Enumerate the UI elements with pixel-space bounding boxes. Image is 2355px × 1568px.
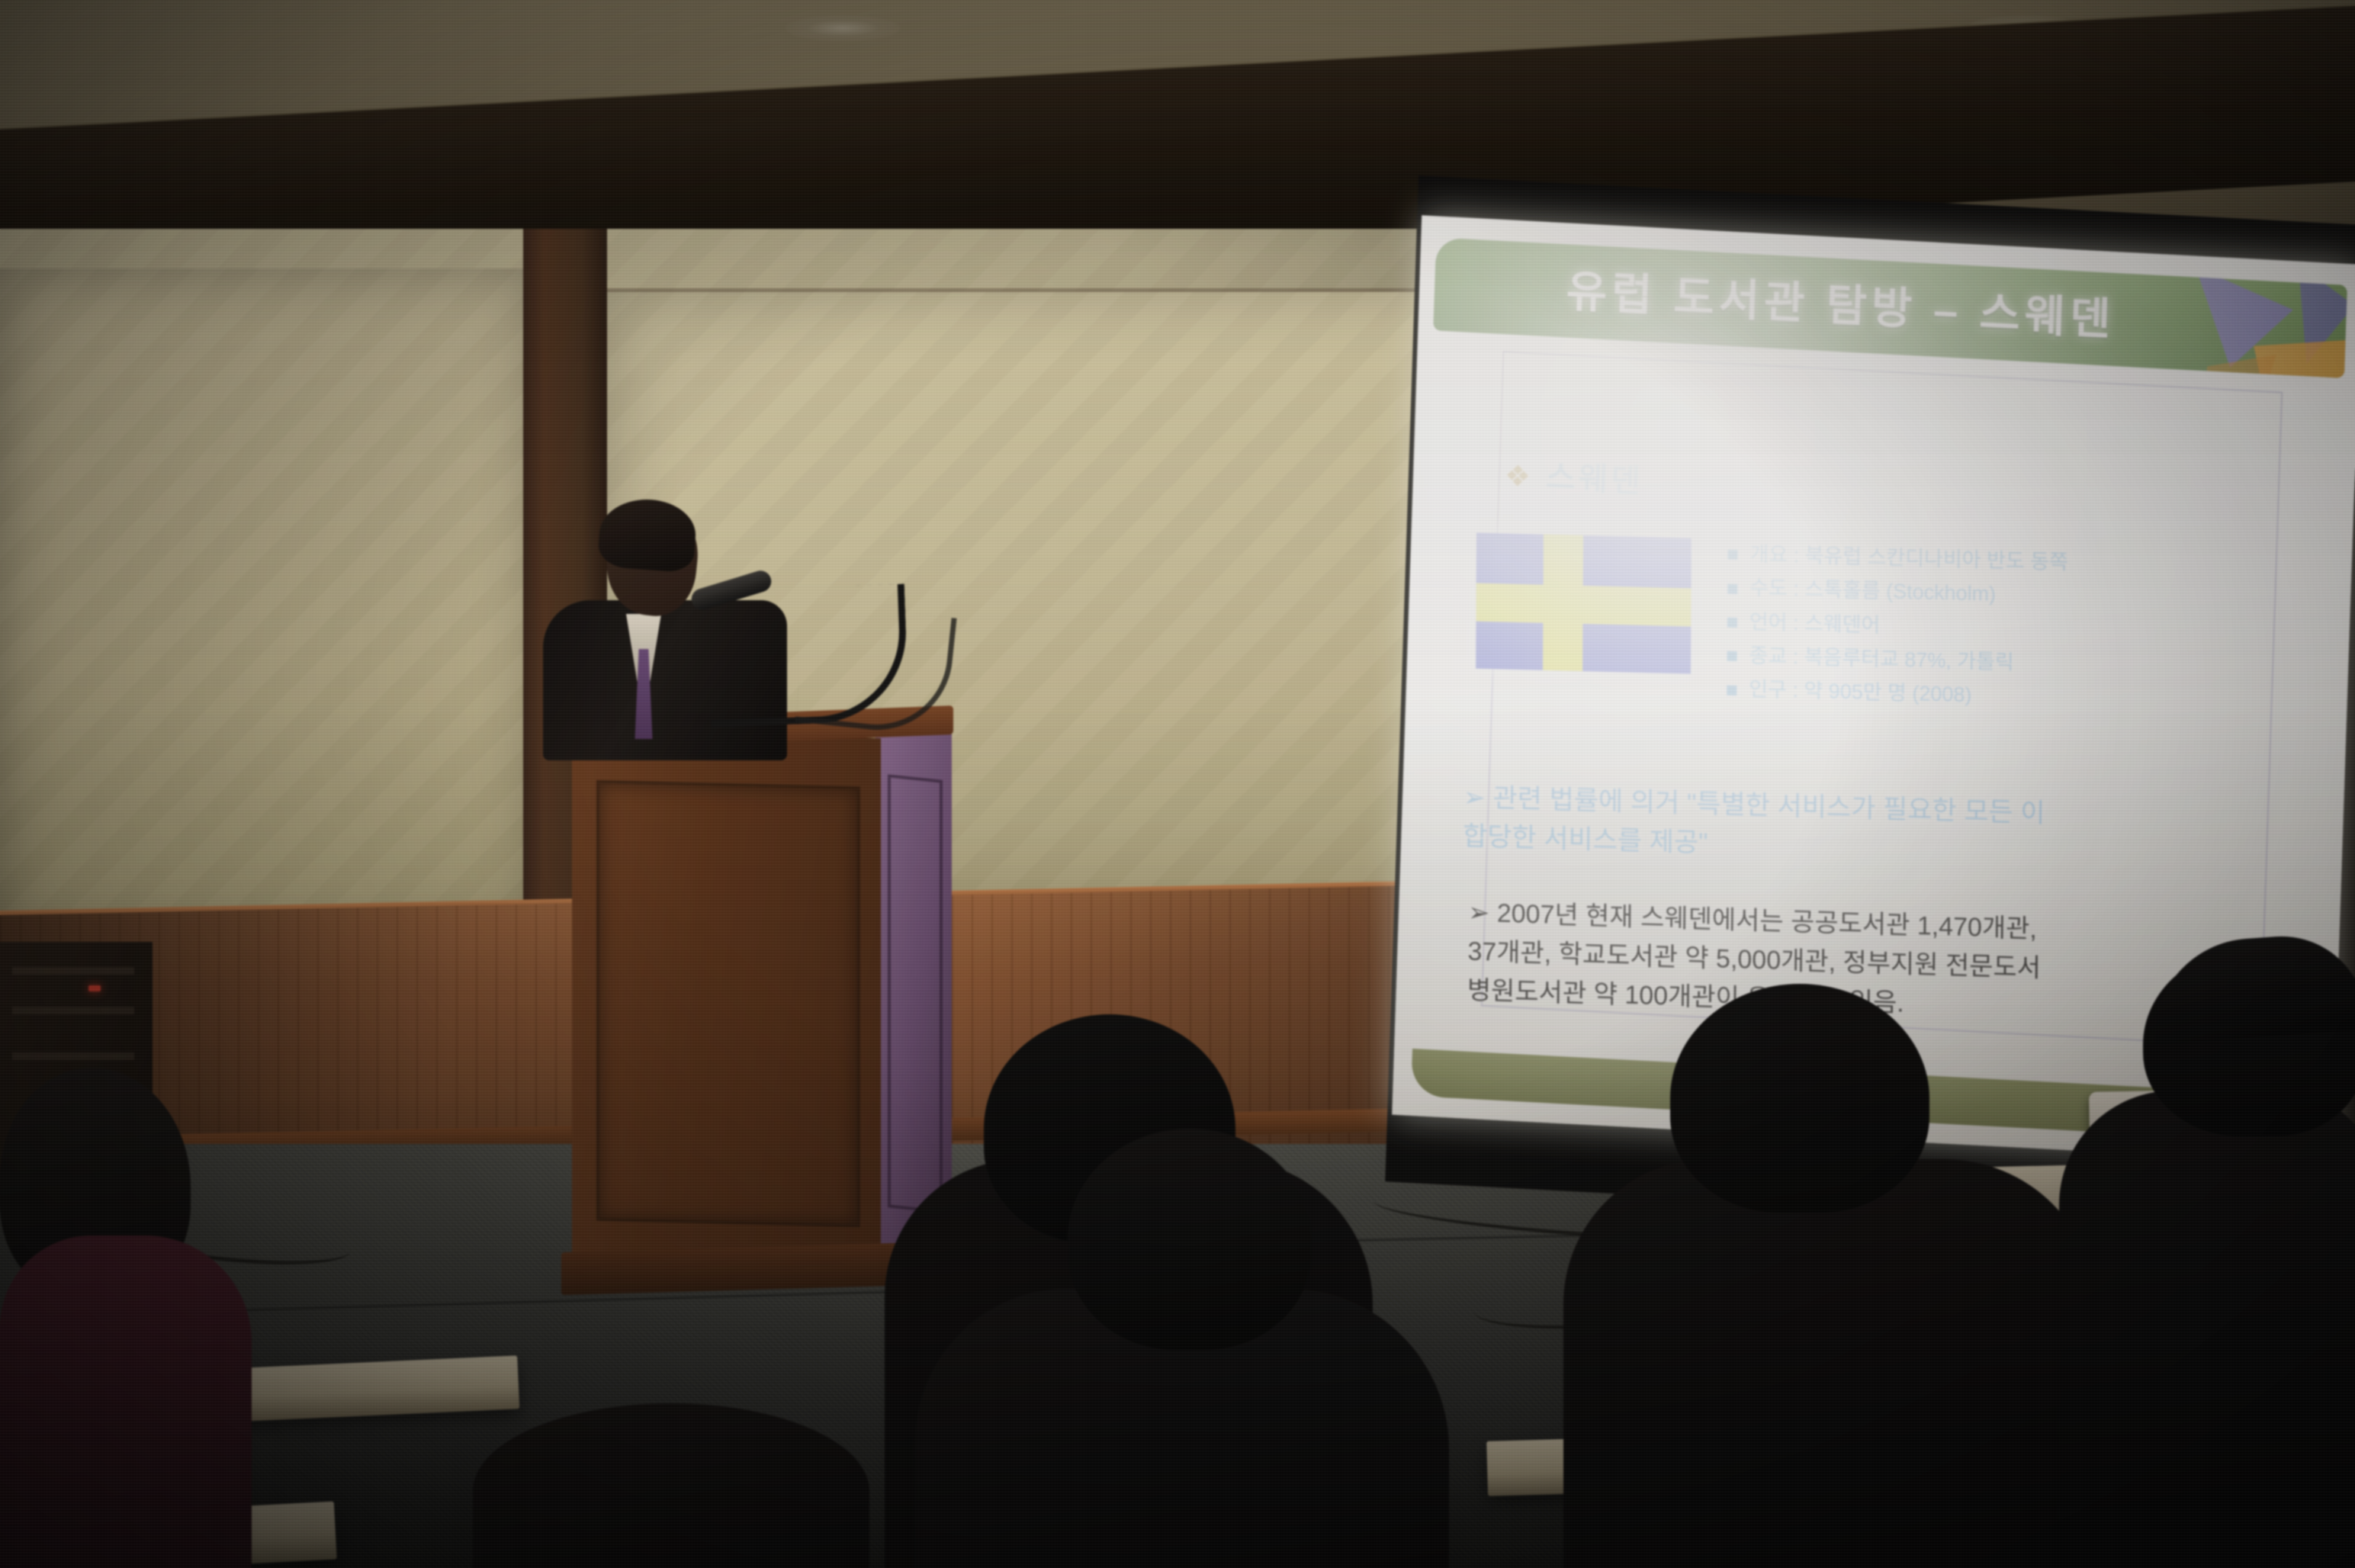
- wall-panel-seam-top: [607, 288, 1515, 292]
- fact-value: 복음루터교 87%, 가톨릭: [1804, 645, 2014, 673]
- audience-person-head: [1068, 1129, 1312, 1350]
- fact-value: 약 905만 명 (2008): [1804, 680, 1971, 707]
- fact-label: 인구: [1749, 678, 1787, 702]
- podium-recessed-panel-side: [888, 774, 943, 1213]
- rack-slot: [12, 1052, 134, 1060]
- fact-label: 언어: [1749, 610, 1788, 634]
- fact-value: 스웨덴어: [1804, 612, 1881, 637]
- sweden-flag-icon: [1476, 533, 1692, 674]
- ceiling-downlight-dim-2: [786, 15, 900, 41]
- fact-label: 수도: [1749, 577, 1788, 600]
- podium-recessed-panel-front: [596, 780, 860, 1227]
- wall-panel-left: [0, 268, 534, 947]
- audience-person-body: [0, 1235, 252, 1568]
- audience-person-body: [2059, 1091, 2355, 1568]
- square-bullet-icon: [1727, 550, 1737, 560]
- presentation-photo: 유럽 도서관 탐방 – 스웨덴 ❖스웨덴 개요 : 북유럽 스칸디나비아 반도 …: [0, 0, 2355, 1568]
- speaker-hair: [597, 496, 698, 574]
- flag-cross-vertical: [1543, 535, 1583, 671]
- audience-person-head: [1670, 984, 1929, 1213]
- wooden-podium: [557, 713, 953, 1293]
- slide-statement-block: ➢ 관련 법률에 의거 "특별한 서비스가 필요한 모든 이 합당한 서비스를 …: [1463, 778, 2324, 880]
- slide-fact-list: 개요 : 북유럽 스칸디나비아 반도 동쪽 수도 : 스톡홀름 (Stockho…: [1727, 539, 2353, 725]
- slide-title-bar: 유럽 도서관 탐방 – 스웨덴: [1433, 237, 2347, 378]
- slide-title: 유럽 도서관 탐방 – 스웨덴: [1434, 248, 2248, 355]
- rack-slot: [12, 1007, 134, 1014]
- square-bullet-icon: [1727, 685, 1737, 695]
- fact-label: 종교: [1749, 644, 1787, 667]
- square-bullet-icon: [1727, 583, 1737, 593]
- rack-power-led-icon: [88, 985, 101, 991]
- slide-section-heading: ❖스웨덴: [1504, 448, 1644, 502]
- fact-value: 북유럽 스칸디나비아 반도 동쪽: [1805, 544, 2068, 574]
- slide-section-heading-text: 스웨덴: [1545, 458, 1643, 500]
- square-bullet-icon: [1727, 651, 1737, 661]
- rack-slot: [12, 967, 134, 975]
- flag-cross-horizontal: [1476, 583, 1691, 627]
- fact-label: 개요: [1749, 542, 1788, 566]
- audience-person-head: [473, 1403, 869, 1568]
- square-bullet-icon: [1727, 618, 1737, 628]
- audience-person-body: [1563, 1159, 2097, 1568]
- fact-value: 스톡홀름 (Stockholm): [1804, 578, 1996, 606]
- diamond-bullet-icon: ❖: [1504, 460, 1534, 493]
